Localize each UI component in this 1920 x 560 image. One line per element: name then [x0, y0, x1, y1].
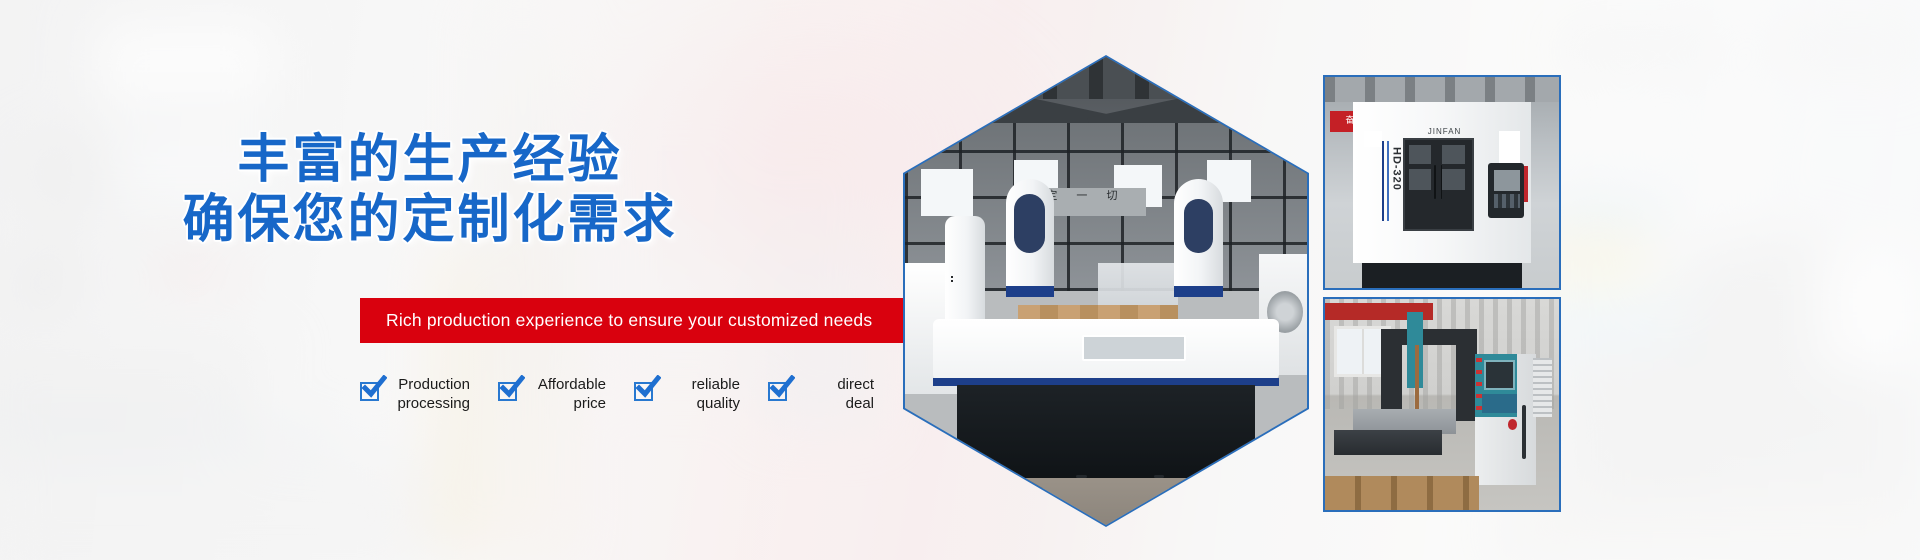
feature-label-line1: direct: [837, 376, 874, 393]
feature-label: directdeal: [796, 375, 874, 413]
feature-label-line2: quality: [697, 395, 740, 412]
machine-model-label: HD-320: [1390, 147, 1402, 191]
checkbox-checked-icon: [634, 382, 653, 401]
feature-item-direct-deal: directdeal: [768, 375, 874, 413]
feature-label-line2: deal: [846, 395, 874, 412]
hexagon-photo: 定 一 切: [905, 57, 1307, 525]
feature-label: Affordableprice: [526, 375, 606, 413]
feature-list: Productionprocessing Affordableprice rel…: [360, 375, 874, 413]
headline-line-1: 丰富的生产经验: [0, 130, 860, 190]
thumbnail-edm-wirecut-machine[interactable]: [1323, 297, 1561, 512]
feature-label-line2: price: [573, 395, 606, 412]
checkbox-checked-icon: [768, 382, 787, 401]
machine-brand-label: JINFAN: [1428, 127, 1462, 136]
checkbox-checked-icon: [360, 382, 379, 401]
feature-label-line1: Affordable: [538, 376, 606, 393]
feature-label-line1: reliable: [692, 376, 740, 393]
feature-item-production-processing: Productionprocessing: [360, 375, 470, 413]
subtitle-text: Rich production experience to ensure you…: [360, 310, 872, 331]
banner-text-block: 丰富的生产经验 确保您的定制化需求 Rich production experi…: [0, 0, 920, 560]
page-title: 丰富的生产经验 确保您的定制化需求: [0, 130, 860, 250]
feature-item-reliable-quality: reliablequality: [634, 375, 740, 413]
feature-label: reliablequality: [662, 375, 740, 413]
checkbox-checked-icon: [498, 382, 517, 401]
feature-item-affordable-price: Affordableprice: [498, 375, 606, 413]
hero-hexagon-image: 定 一 切: [903, 55, 1309, 527]
feature-label: Productionprocessing: [388, 375, 470, 413]
feature-label-line1: Production: [398, 376, 470, 393]
headline-line-2: 确保您的定制化需求: [0, 190, 860, 250]
thumbnail-hd320-machining-center[interactable]: 奋力 HD-320 JINFAN: [1323, 75, 1561, 290]
promo-banner: 丰富的生产经验 确保您的定制化需求 Rich production experi…: [0, 0, 1920, 560]
subtitle-red-bar: Rich production experience to ensure you…: [360, 298, 906, 343]
feature-label-line2: processing: [397, 395, 470, 412]
